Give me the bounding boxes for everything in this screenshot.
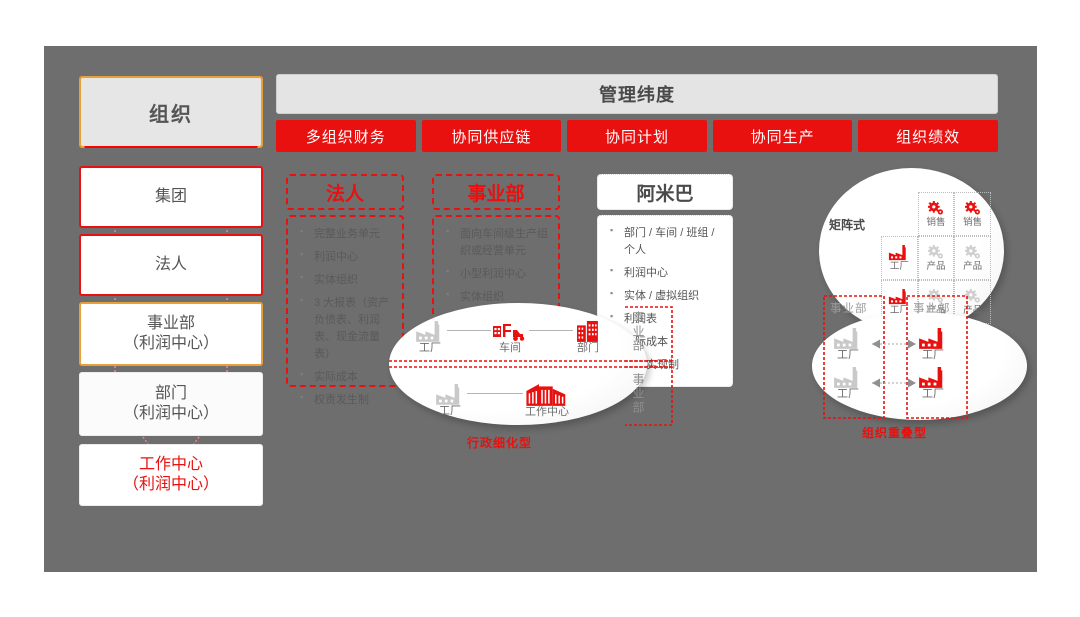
admin-node-workcenter[interactable]: 工作中心 [525,383,569,418]
admin-side-label-2: 事业部 [632,373,644,419]
matrix-cell-label: 销售 [926,218,945,228]
tab-collab-supply-chain[interactable]: 协同供应链 [422,120,562,152]
connector-line [467,393,523,394]
overlap-node-label: 工厂 [922,389,944,400]
overlap-node-label: 工厂 [837,350,859,361]
overlap-top-label-2: 事业部 [913,300,951,316]
matrix-cell-label: 工厂 [890,262,909,272]
card-bullet: 小型利润中心 [438,266,550,283]
tab-collab-plan[interactable]: 协同计划 [567,120,707,152]
tab-multi-org-finance[interactable]: 多组织财务 [276,120,416,152]
org-level-shiyebu[interactable]: 事业部（利润中心） [79,302,263,366]
forklift-red-icon [493,321,527,343]
card-bullet: 面向车间级生产组织或经营单元 [438,226,550,260]
card-bullet: 实体组织 [292,272,394,289]
admin-node-factory[interactable]: 工厂 [435,384,465,417]
org-level-gongzuozhongxin[interactable]: 工作中心（利润中心） [79,444,263,506]
overlap-node-factory-red-1[interactable]: 工厂 [917,328,949,361]
admin-row-2: 工厂 工作中心 [435,383,569,418]
factory-red-icon [917,328,949,350]
org-header-label: 组织 [149,98,193,127]
connector-line [447,330,491,331]
factory-gray-icon [435,384,465,406]
tab-label: 多组织财务 [306,126,386,147]
overlap-node-factory-red-2[interactable]: 工厂 [917,367,949,400]
card-bullet: 利润中心 [602,265,724,282]
tab-label: 组织绩效 [896,126,960,147]
page-title: 管理纬度 [599,81,675,107]
admin-node-label: 工厂 [419,343,441,354]
matrix-cell-empty [881,192,918,236]
org-level-bumen[interactable]: 部门（利润中心） [79,372,263,436]
management-dimension-bar: 管理纬度 [276,74,998,114]
org-level-label: 事业部（利润中心） [123,314,219,354]
admin-node-workshop[interactable]: 车间 [493,321,527,354]
org-level-label: 法人 [155,255,187,275]
card-bullet: 权责发生制 [292,392,394,409]
gear-red-icon [927,201,945,217]
buildings-red-icon [526,383,568,407]
overlap-node-label: 工厂 [922,350,944,361]
org-level-label: 工作中心（利润中心） [123,455,219,495]
gear-gray-icon [927,245,945,261]
overlap-node-factory-gray-1[interactable]: 工厂 [832,328,864,361]
admin-diagram-caption: 行政细化型 [467,434,532,451]
overlap-top-label-1: 事业部 [830,300,868,316]
card-bullet: 3 大报表（资产负债表、利润表、现金流量表） [292,295,394,363]
overlap-diagram: 事业部 事业部 工厂 [804,290,1029,440]
matrix-cell-label: 产品 [926,262,945,272]
factory-gray-icon [832,328,864,350]
matrix-cell-product-1[interactable]: 产品 [918,236,955,280]
card-bullet: 部门 / 车间 / 班组 / 个人 [602,225,724,259]
admin-side-label-1: 事业部 [632,311,644,357]
card-body: 完整业务单元 利润中心 实体组织 3 大报表（资产负债表、利润表、现金流量表） … [286,215,404,387]
card-bullet: 完整业务单元 [292,226,394,243]
matrix-cell-label: 销售 [963,218,982,228]
slide-canvas: 组织 集团 法人 事业部（利润中心） 部门（利润中心） [0,0,1080,617]
card-title: 法人 [286,174,404,210]
diagram-panel: 组织 集团 法人 事业部（利润中心） 部门（利润中心） [44,46,1037,572]
overlap-node-factory-gray-2[interactable]: 工厂 [832,367,864,400]
admin-node-label: 车间 [499,343,521,354]
overlap-node-label: 工厂 [837,389,859,400]
org-level-label: 集团 [155,187,187,207]
tab-label: 协同供应链 [451,126,531,147]
admin-node-factory[interactable]: 工厂 [415,321,445,354]
matrix-cell-sales-1[interactable]: 销售 [918,192,955,236]
matrix-cell-product-2[interactable]: 产品 [954,236,991,280]
factory-red-icon [888,245,910,261]
admin-node-department[interactable]: 部门 [575,321,601,354]
building-red-icon [575,321,601,343]
admin-node-label: 工厂 [439,406,461,417]
gear-red-icon [964,201,982,217]
card-title: 阿米巴 [597,174,733,210]
admin-refinement-diagram: 工厂 [389,303,679,438]
matrix-cell-factory-1[interactable]: 工厂 [881,236,918,280]
tab-label: 协同生产 [751,126,815,147]
card-bullet: 利润中心 [292,249,394,266]
admin-node-label: 工作中心 [525,407,569,418]
card-faren[interactable]: 法人 完整业务单元 利润中心 实体组织 3 大报表（资产负债表、利润表、现金流量… [286,174,404,387]
gear-gray-icon [964,245,982,261]
connector-line [529,330,573,331]
admin-node-label: 部门 [577,343,599,354]
org-level-label: 部门（利润中心） [123,384,219,424]
overlap-diagram-caption: 组织重叠型 [862,424,927,441]
factory-red-icon [917,367,949,389]
org-header-box[interactable]: 组织 [79,76,263,148]
dimension-tabs: 多组织财务 协同供应链 协同计划 协同生产 组织绩效 [276,120,998,152]
tab-org-performance[interactable]: 组织绩效 [858,120,998,152]
matrix-cell-label: 产品 [963,262,982,272]
org-level-jituan[interactable]: 集团 [79,166,263,228]
admin-row-1: 工厂 [415,321,601,354]
tab-collab-production[interactable]: 协同生产 [713,120,853,152]
card-bullet: 实际成本 [292,369,394,386]
matrix-cell-sales-2[interactable]: 销售 [954,192,991,236]
factory-gray-icon [415,321,445,343]
org-level-faren[interactable]: 法人 [79,234,263,296]
factory-gray-icon [832,367,864,389]
tab-label: 协同计划 [605,126,669,147]
matrix-label: 矩阵式 [829,216,865,233]
card-title: 事业部 [432,174,560,210]
